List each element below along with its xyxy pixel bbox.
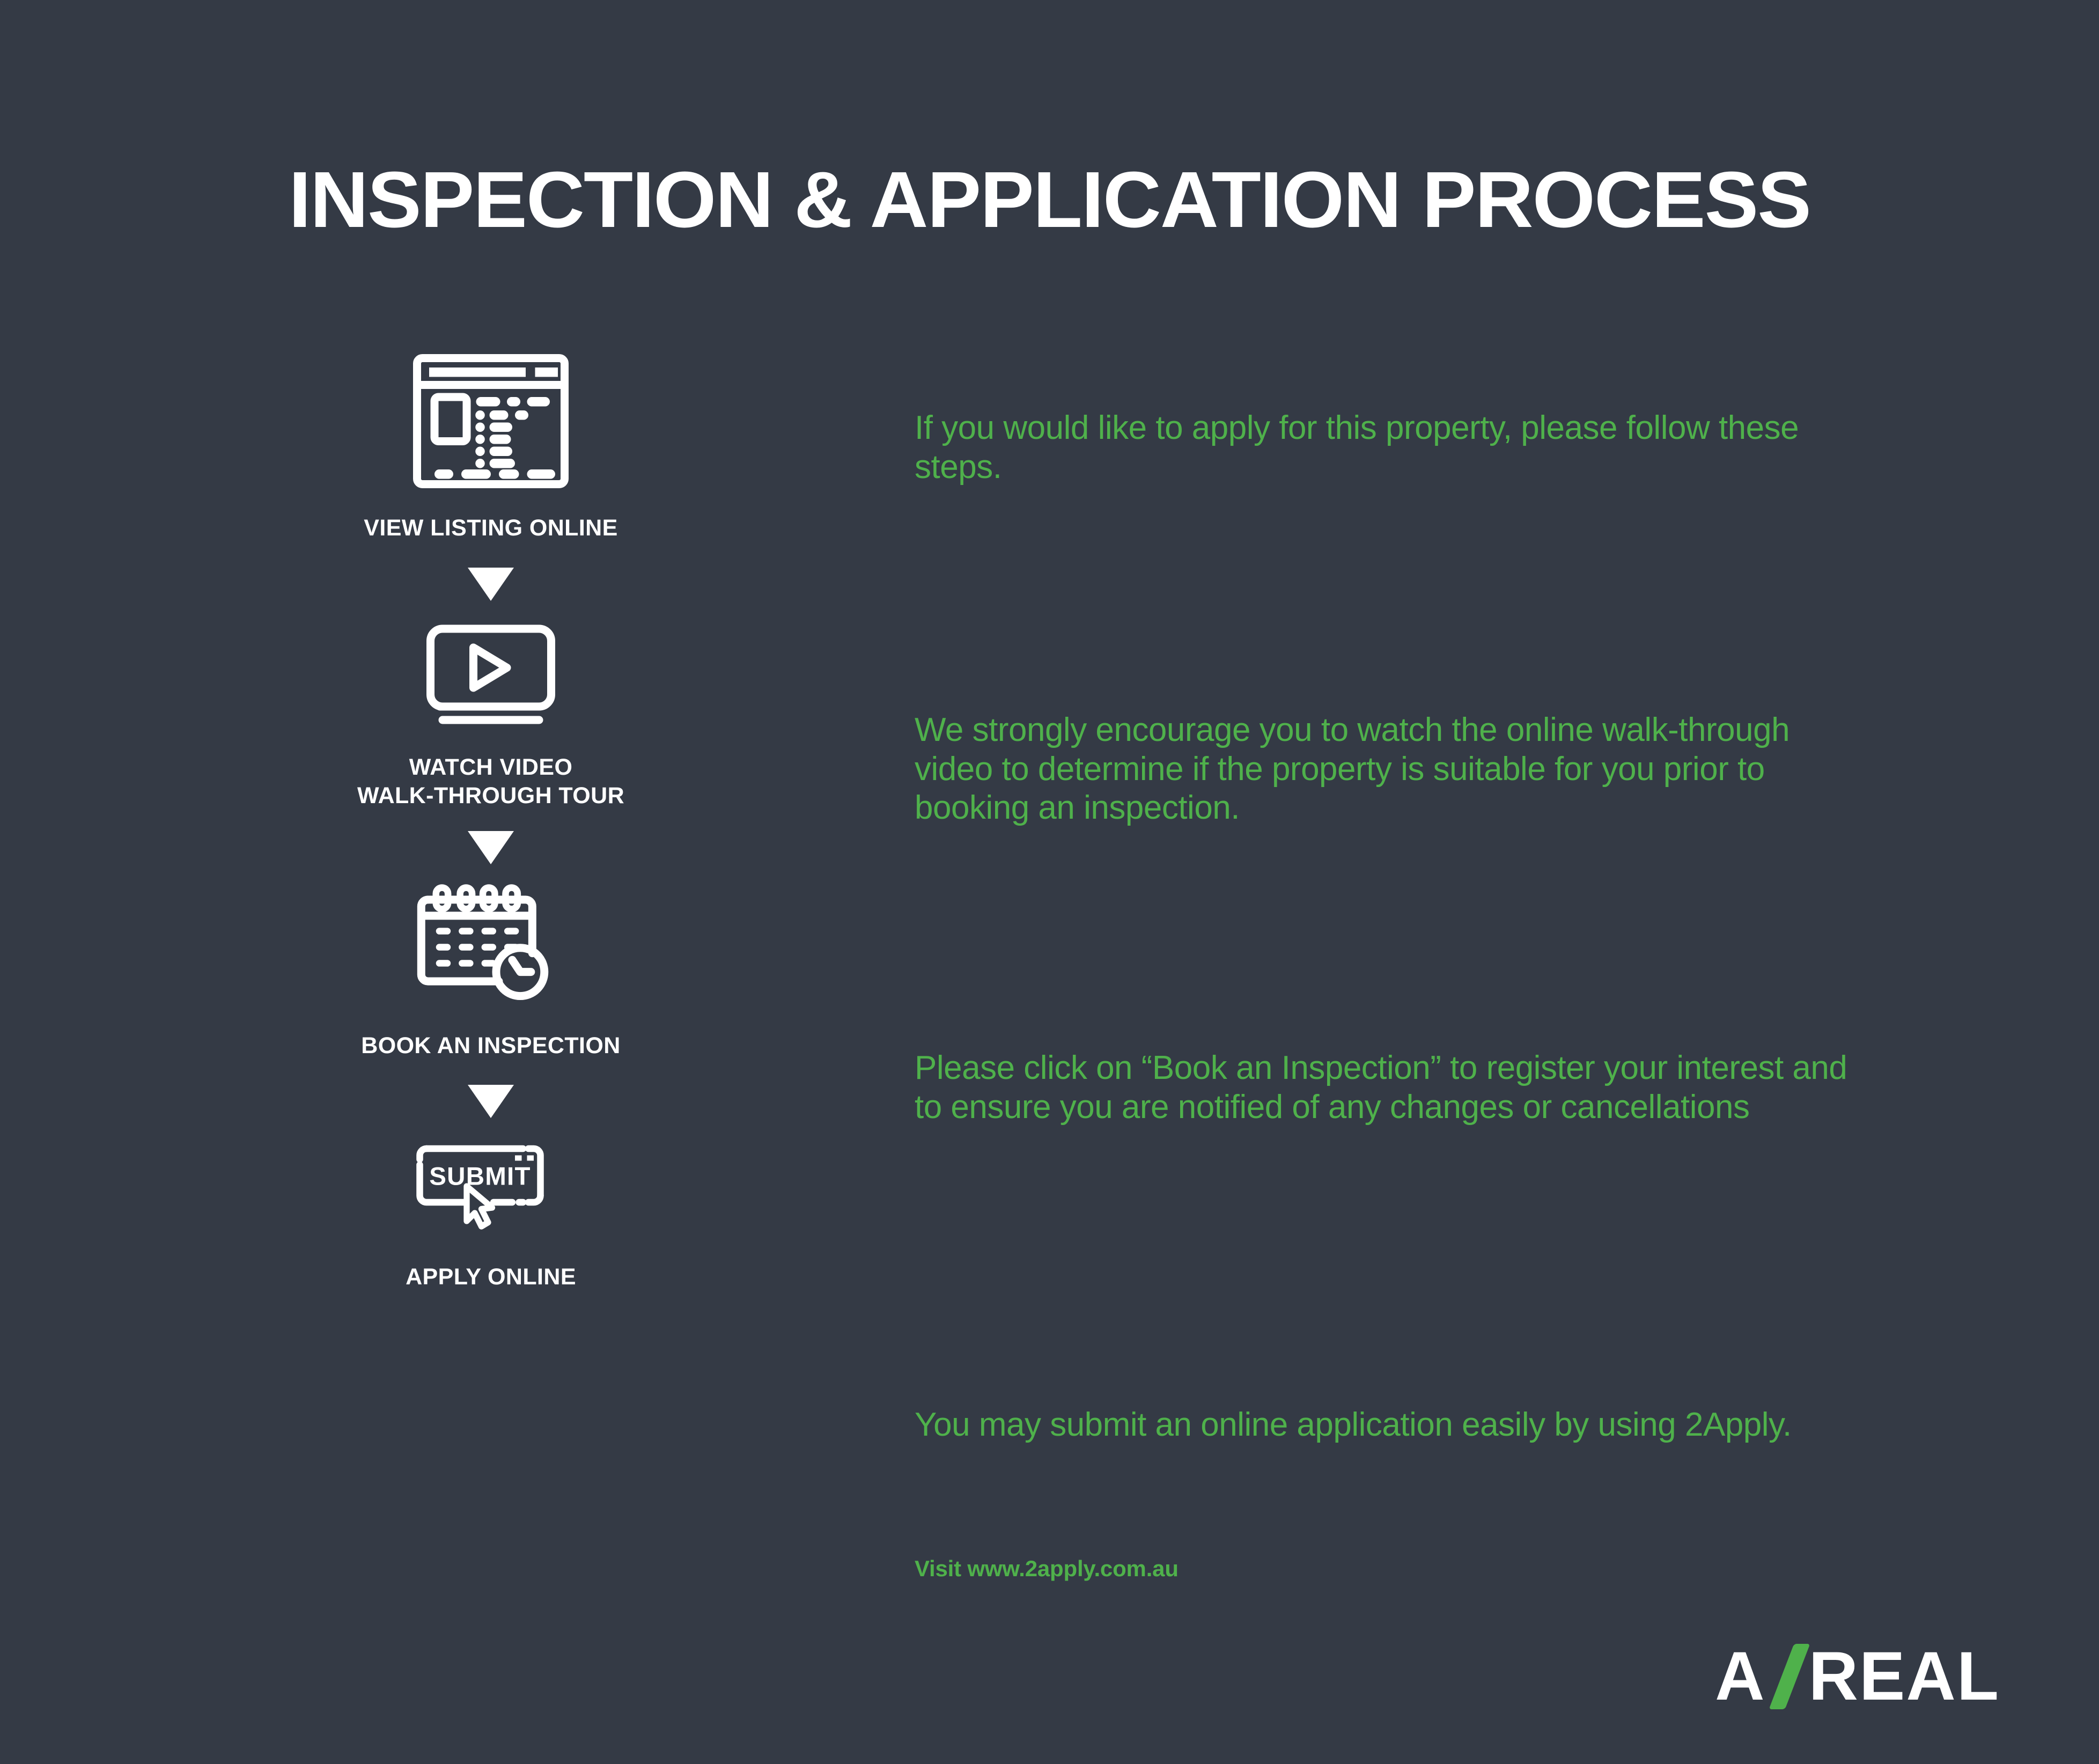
step-apply-online[interactable]: SUBMIT APPLY ONLINE: [413, 1141, 569, 1291]
copy-paragraph-3: Please click on “Book an Inspection” to …: [915, 1049, 1875, 1127]
logo-letter-a: A: [1715, 1637, 1765, 1716]
step-label-book-inspection: BOOK AN INSPECTION: [287, 1032, 695, 1060]
step-label-line: VIEW LISTING ONLINE: [287, 514, 695, 542]
brand-logo: A REAL: [1715, 1637, 2000, 1716]
step-view-listing-online[interactable]: VIEW LISTING ONLINE: [413, 354, 569, 542]
visit-url-text[interactable]: Visit www.2apply.com.au: [915, 1556, 1179, 1582]
copy-paragraph-2: We strongly encourage you to watch the o…: [915, 711, 1875, 828]
step-label-line: WALK-THROUGH TOUR: [287, 782, 695, 810]
logo-slash-icon: [1772, 1644, 1806, 1709]
page-title: INSPECTION & APPLICATION PROCESS: [0, 155, 2099, 246]
step-label-view-listing: VIEW LISTING ONLINE: [287, 514, 695, 542]
step-label-line: WATCH VIDEO: [287, 753, 695, 781]
copy-paragraph-1: If you would like to apply for this prop…: [915, 409, 1875, 487]
step-label-line: APPLY ONLINE: [287, 1263, 695, 1291]
logo-word-real: REAL: [1809, 1637, 2000, 1716]
step-watch-video[interactable]: WATCH VIDEO WALK-THROUGH TOUR: [413, 623, 569, 810]
step-label-watch-video: WATCH VIDEO WALK-THROUGH TOUR: [287, 753, 695, 810]
flow-arrow-1: [413, 568, 569, 601]
step-label-apply-online: APPLY ONLINE: [287, 1263, 695, 1291]
step-book-inspection[interactable]: BOOK AN INSPECTION: [413, 884, 569, 1060]
listing-page-icon: [413, 354, 569, 488]
copy-paragraph-4: You may submit an online application eas…: [915, 1406, 1875, 1445]
calendar-clock-icon: [413, 884, 569, 1008]
flow-arrow-3: [413, 1085, 569, 1118]
infographic-page: INSPECTION & APPLICATION PROCESS: [0, 0, 2099, 1764]
steps-rail: VIEW LISTING ONLINE WATCH VIDEO WALK-THR…: [413, 354, 569, 1291]
submit-icon-text: SUBMIT: [429, 1162, 531, 1190]
flow-arrow-2: [413, 831, 569, 864]
step-label-line: BOOK AN INSPECTION: [287, 1032, 695, 1060]
video-play-monitor-icon: [413, 623, 569, 731]
submit-button-cursor-icon: SUBMIT: [413, 1141, 569, 1237]
